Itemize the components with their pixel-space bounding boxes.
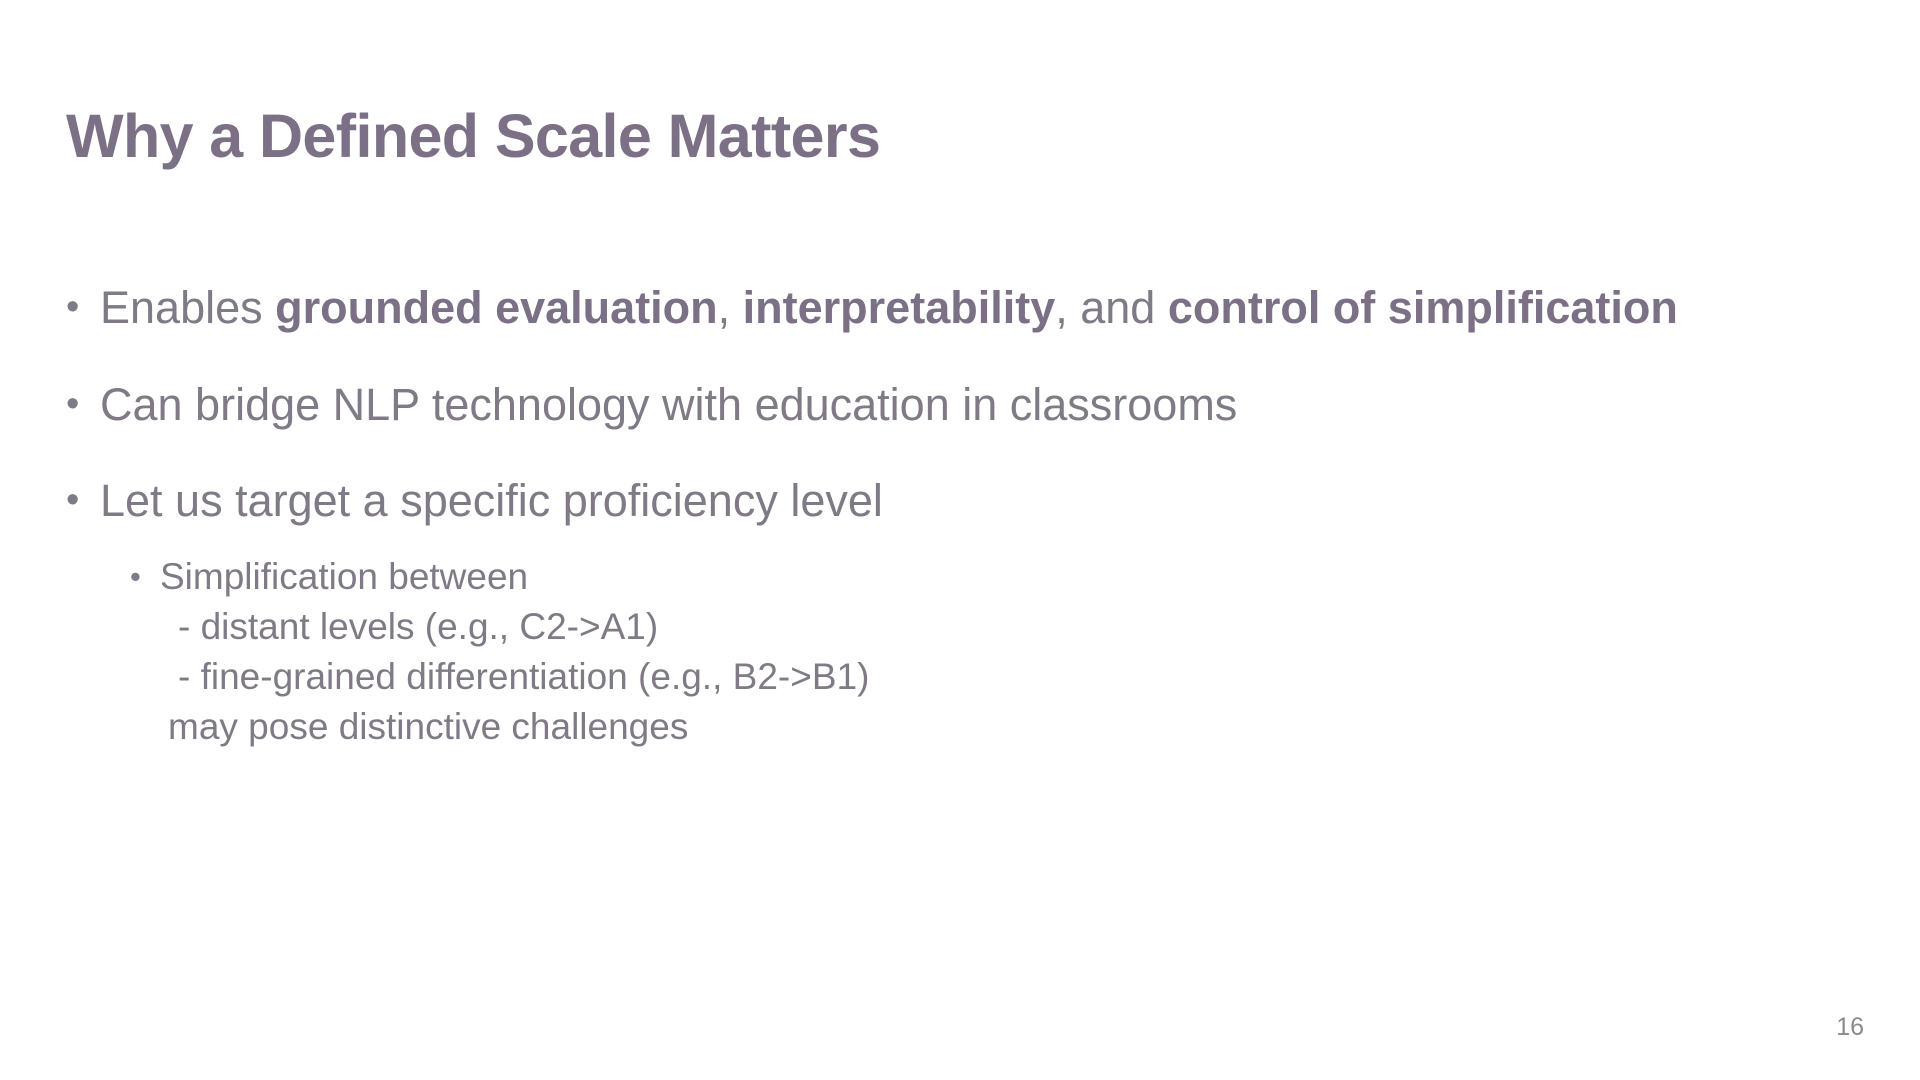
sub-bullet-line: may pose distinctive challenges xyxy=(160,702,1866,752)
slide: Why a Defined Scale Matters • Enables gr… xyxy=(0,0,1920,1080)
bullet-text: Enables grounded evaluation, interpretab… xyxy=(100,280,1830,337)
bullet-marker-icon: • xyxy=(66,377,100,432)
bullet-segment-bold: control of simplification xyxy=(1168,282,1678,333)
bullet-item: • Let us target a specific proficiency l… xyxy=(66,473,1866,530)
page-title: Why a Defined Scale Matters xyxy=(66,104,880,168)
bullet-text: Can bridge NLP technology with education… xyxy=(100,377,1830,434)
bullet-item: • Can bridge NLP technology with educati… xyxy=(66,377,1866,434)
sub-bullet-line: - distant levels (e.g., C2->A1) xyxy=(160,602,1866,652)
sub-bullet-text: Simplification between - distant levels … xyxy=(160,552,1866,752)
bullet-text: Let us target a specific proficiency lev… xyxy=(100,473,1830,530)
sub-bullet-marker-icon: • xyxy=(130,552,160,602)
sub-bullet-item: • Simplification between - distant level… xyxy=(130,552,1866,752)
sub-bullet-line: Simplification between xyxy=(160,552,1866,602)
sub-bullet-line: - fine-grained differentiation (e.g., B2… xyxy=(160,652,1866,702)
bullet-item: • Enables grounded evaluation, interpret… xyxy=(66,280,1866,337)
bullet-segment-bold: grounded evaluation xyxy=(275,282,718,333)
slide-number: 16 xyxy=(1836,1013,1864,1042)
bullet-segment: Enables xyxy=(100,282,275,333)
bullet-marker-icon: • xyxy=(66,473,100,528)
bullet-segment-bold: interpretability xyxy=(743,282,1056,333)
bullet-segment: , xyxy=(718,282,743,333)
slide-body: • Enables grounded evaluation, interpret… xyxy=(66,280,1866,752)
bullet-marker-icon: • xyxy=(66,280,100,335)
bullet-segment: , and xyxy=(1055,282,1168,333)
